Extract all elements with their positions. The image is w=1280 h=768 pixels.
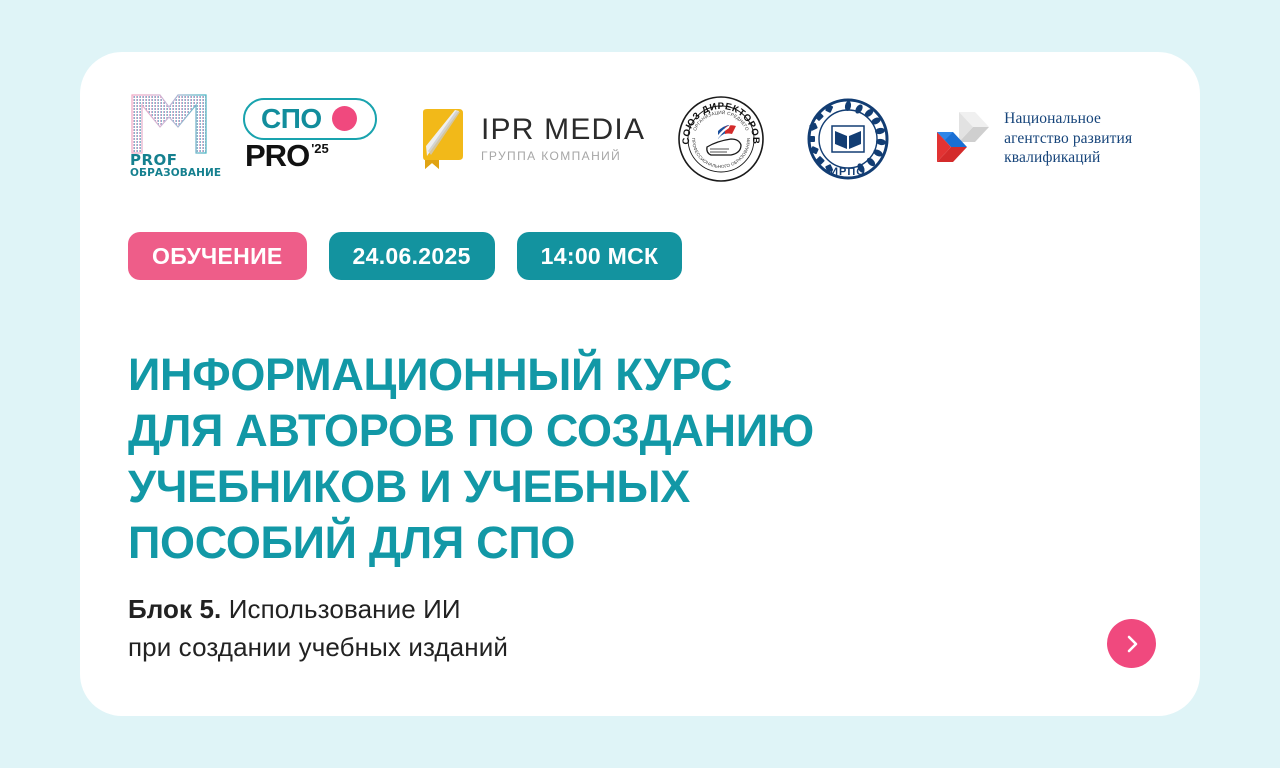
subtitle-line-2: при создании учебных изданий [128,628,508,666]
nark-line3: квалификаций [1004,148,1132,167]
nark-line1: Национальное [1004,109,1132,128]
title-line-2: ДЛЯ АВТОРОВ ПО СОЗДАНИЮ [128,403,814,459]
logo-prof-obrazovanie: PROF ОБРАЗОВАНИЕ [125,89,213,189]
next-button[interactable] [1107,619,1156,668]
pro-year: '25 [311,141,329,156]
nark-line2: агентство развития [1004,129,1132,148]
nark-text-block: Национальное агентство развития квалифик… [1004,109,1132,167]
subtitle-line-1: Блок 5. Использование ИИ [128,590,508,628]
title-line-3: УЧЕБНИКОВ И УЧЕБНЫХ [128,459,814,515]
badge-type: ОБУЧЕНИЕ [128,232,307,280]
logo-irpo: ИРПО [765,89,889,189]
chevron-right-icon [1121,633,1143,655]
ipr-book-icon [419,108,467,170]
badge-row: ОБУЧЕНИЕ 24.06.2025 14:00 МСК [128,232,682,280]
prof-book-icon [130,93,208,155]
spo-word: СПО [261,105,322,133]
content-card: PROF ОБРАЗОВАНИЕ СПО PRO '25 [80,52,1200,716]
svg-text:ИРПО: ИРПО [830,166,866,178]
title-line-4: ПОСОБИЙ ДЛЯ СПО [128,515,814,571]
irpo-emblem-icon: ИРПО [807,95,889,183]
partner-logo-strip: PROF ОБРАЗОВАНИЕ СПО PRO '25 [125,86,1132,191]
badge-time: 14:00 МСК [517,232,683,280]
logo-nark: Национальное агентство развития квалифик… [889,89,1132,189]
prof-logo-line1: PROF [130,153,210,168]
subtitle: Блок 5. Использование ИИ при создании уч… [128,590,508,666]
title-line-1: ИНФОРМАЦИОННЫЙ КУРС [128,347,814,403]
soyuz-direktorov-emblem-icon: СОЮЗ ДИРЕКТОРОВ ОРГАНИЗАЦИЙ СРЕДНЕГО ПРО… [677,95,765,183]
ipr-media-title: IPR MEDIA [481,114,645,146]
subtitle-block-label: Блок 5. [128,594,221,624]
prof-logo-line2: ОБРАЗОВАНИЕ [130,168,210,179]
pro-word: PRO [245,140,309,171]
logo-spo-pro: СПО PRO '25 [213,89,385,189]
spo-dot-icon [332,106,357,131]
poster-stage: PROF ОБРАЗОВАНИЕ СПО PRO '25 [0,0,1280,768]
logo-soyuz-direktorov: СОЮЗ ДИРЕКТОРОВ ОРГАНИЗАЦИЙ СРЕДНЕГО ПРО… [645,89,765,189]
page-title: ИНФОРМАЦИОННЫЙ КУРС ДЛЯ АВТОРОВ ПО СОЗДА… [128,347,814,571]
nark-chevron-icon [929,110,991,168]
badge-date: 24.06.2025 [329,232,495,280]
spo-pill: СПО [243,98,377,140]
logo-ipr-media: IPR MEDIA ГРУППА КОМПАНИЙ [385,89,645,189]
ipr-media-subtitle: ГРУППА КОМПАНИЙ [481,149,645,163]
subtitle-line-1-rest: Использование ИИ [221,594,460,624]
